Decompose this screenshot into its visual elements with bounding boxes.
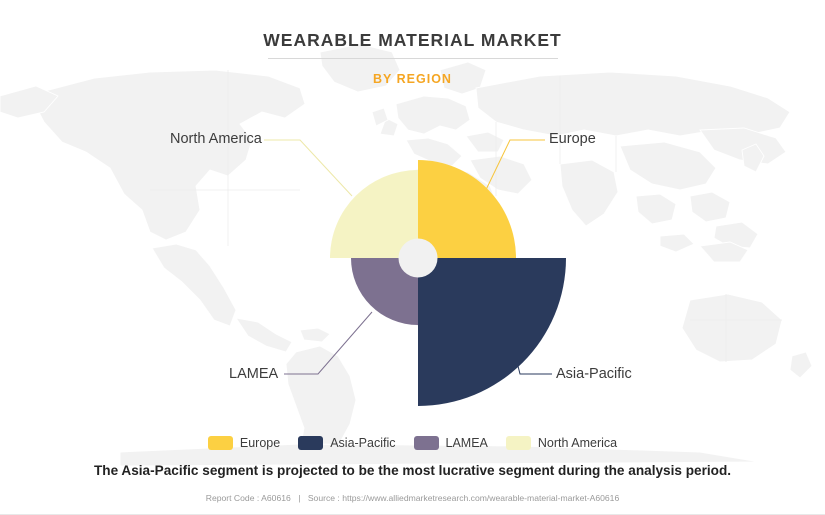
pie-label-lamea: LAMEA xyxy=(229,366,278,382)
chart-canvas: WEARABLE MATERIAL MARKET BY REGION xyxy=(0,0,825,515)
source-separator: | xyxy=(298,493,300,503)
leader-line-lamea xyxy=(284,312,372,374)
legend-item-europe[interactable]: Europe xyxy=(208,436,280,450)
pie-slices xyxy=(330,160,566,406)
pie-label-europe: Europe xyxy=(549,131,596,147)
pie-chart: North America Europe LAMEA Asia-Pacific xyxy=(0,0,825,470)
legend-swatch-europe xyxy=(208,436,233,450)
leader-line-north-america xyxy=(264,140,352,196)
report-code: Report Code : A60616 xyxy=(206,493,291,503)
legend-item-asia-pacific[interactable]: Asia-Pacific xyxy=(298,436,395,450)
legend-item-lamea[interactable]: LAMEA xyxy=(414,436,488,450)
leader-line-europe xyxy=(483,140,545,196)
pie-chart-svg xyxy=(0,0,825,470)
pie-label-asia-pacific: Asia-Pacific xyxy=(556,366,632,382)
pie-slice-europe[interactable] xyxy=(418,160,516,258)
source-url[interactable]: Source : https://www.alliedmarketresearc… xyxy=(308,493,619,503)
legend-item-north-america[interactable]: North America xyxy=(506,436,617,450)
legend-swatch-asia-pacific xyxy=(298,436,323,450)
donut-hole xyxy=(399,239,438,278)
pie-slice-asia-pacific[interactable] xyxy=(418,258,566,406)
legend-swatch-lamea xyxy=(414,436,439,450)
pie-label-north-america: North America xyxy=(170,131,262,147)
source-bar: Report Code : A60616 | Source : https://… xyxy=(0,492,825,504)
legend-label-north-america: North America xyxy=(538,436,617,450)
legend-label-lamea: LAMEA xyxy=(446,436,488,450)
legend-label-europe: Europe xyxy=(240,436,280,450)
legend-label-asia-pacific: Asia-Pacific xyxy=(330,436,395,450)
chart-footnote: The Asia-Pacific segment is projected to… xyxy=(0,462,825,480)
legend-swatch-north-america xyxy=(506,436,531,450)
chart-legend: Europe Asia-Pacific LAMEA North America xyxy=(0,436,825,450)
